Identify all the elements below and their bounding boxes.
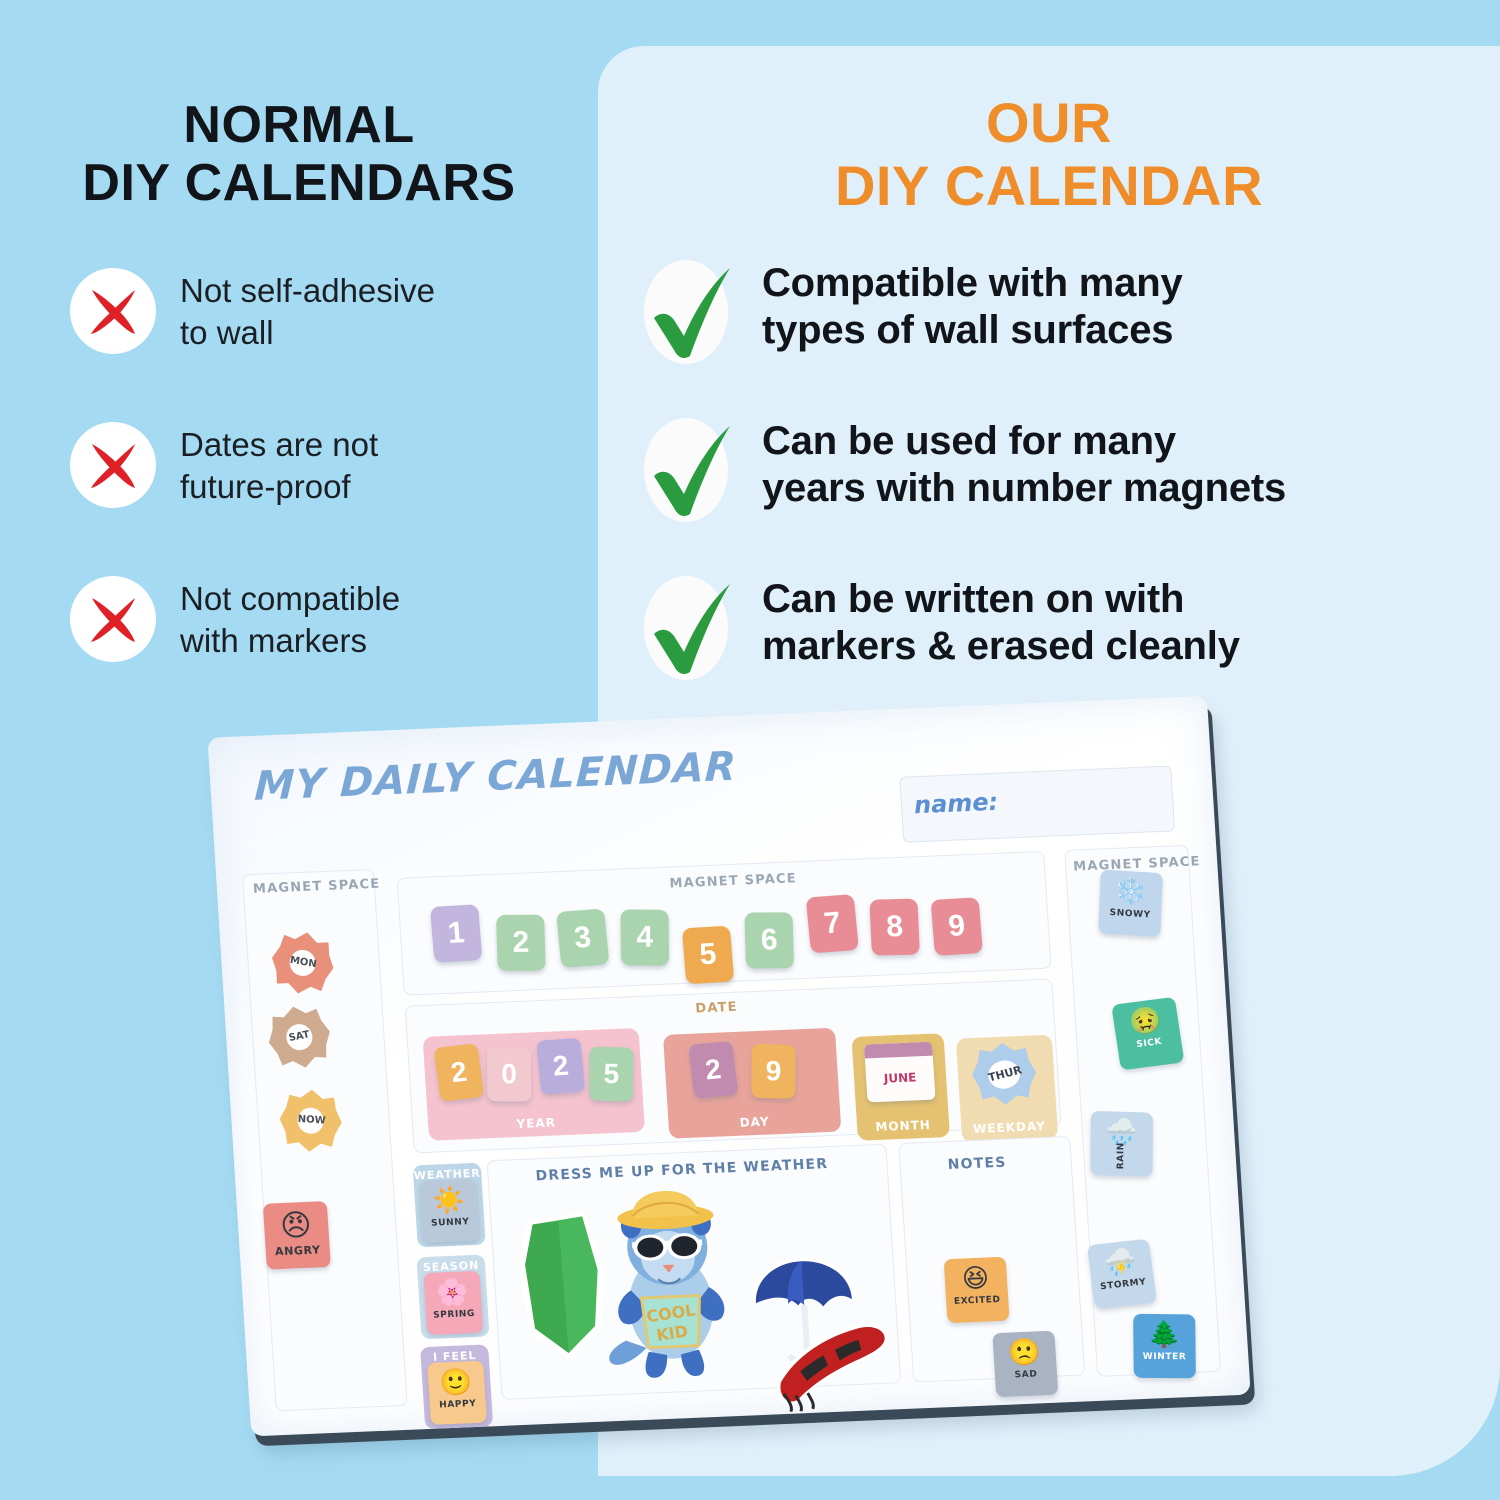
season-category: SEASON 🌸 SPRING xyxy=(416,1255,489,1340)
cross-icon xyxy=(70,268,156,354)
month-caption: MONTH xyxy=(857,1117,950,1135)
board-title: MY DAILY CALENDAR xyxy=(254,744,738,810)
day-caption: DAY xyxy=(668,1112,841,1133)
check-icon xyxy=(640,572,744,684)
feeling-category: I FEEL 🙂 HAPPY xyxy=(420,1344,493,1429)
year-digit[interactable]: 0 xyxy=(487,1047,532,1101)
list-item[interactable]: 🌧️ RAIN xyxy=(1090,1111,1153,1177)
name-field[interactable]: name: xyxy=(899,765,1175,842)
notes-label: NOTES xyxy=(947,1155,1007,1173)
number-magnet[interactable]: 3 xyxy=(556,908,609,967)
list-item: Compatible with many types of wall surfa… xyxy=(640,256,1480,374)
calendar-icon xyxy=(864,1042,933,1059)
left-title-line1: NORMAL xyxy=(183,96,414,154)
list-item[interactable]: 😠 ANGRY xyxy=(263,1201,331,1270)
left-column-title: NORMAL DIY CALENDARS xyxy=(0,96,598,212)
magnet-label: WINTER xyxy=(1134,1351,1196,1362)
list-item[interactable]: 😆 EXCITED xyxy=(944,1257,1010,1323)
magnet-label: NOW xyxy=(297,1107,324,1135)
scarf-icon[interactable] xyxy=(763,1317,909,1413)
feeling-magnet[interactable]: 🙂 HAPPY xyxy=(427,1361,487,1425)
sun-icon: ☀️ xyxy=(420,1186,478,1217)
list-item-text: Can be used for many years with number m… xyxy=(762,414,1286,512)
year-digit[interactable]: 2 xyxy=(434,1043,485,1102)
month-value: JUNE xyxy=(866,1070,935,1087)
right-title-line1: OUR xyxy=(986,91,1112,154)
name-label: name: xyxy=(913,788,999,819)
number-magnet[interactable]: 8 xyxy=(869,899,920,956)
cons-list: Not self-adhesive to wall Dates are not … xyxy=(70,268,590,730)
year-caption: YEAR xyxy=(428,1112,645,1135)
year-digit[interactable]: 2 xyxy=(536,1038,585,1095)
list-item-text: Not compatible with markers xyxy=(180,576,400,662)
check-icon xyxy=(640,414,744,526)
weekday-caption: WEEKDAY xyxy=(961,1118,1058,1136)
list-item: Can be used for many years with number m… xyxy=(640,414,1480,532)
number-magnet[interactable]: 1 xyxy=(430,904,482,963)
magnet-label: SAD xyxy=(995,1368,1058,1381)
list-item: Can be written on with markers & erased … xyxy=(640,572,1480,690)
date-label: DATE xyxy=(695,1000,738,1017)
weather-magnet[interactable]: ☀️ SUNNY xyxy=(420,1179,480,1243)
list-item-text: Can be written on with markers & erased … xyxy=(762,572,1240,670)
list-item[interactable]: ❄️ SNOWY xyxy=(1098,869,1163,937)
list-item[interactable]: 🙁 SAD xyxy=(992,1331,1058,1397)
season-magnet[interactable]: 🌸 SPRING xyxy=(423,1271,483,1335)
character-illustration[interactable]: COOL KID xyxy=(589,1186,751,1392)
right-title-line2: DIY CALENDAR xyxy=(598,155,1500,218)
list-item[interactable]: ⛈️ STORMY xyxy=(1087,1239,1157,1309)
number-magnet[interactable]: 9 xyxy=(931,897,983,956)
happy-face-icon: 🙂 xyxy=(428,1368,486,1399)
magnet-label: MON xyxy=(288,948,318,978)
board-surface: MY DAILY CALENDAR name: MAGNET SPACE MON… xyxy=(207,696,1250,1437)
day-digit[interactable]: 2 xyxy=(688,1041,738,1099)
magnet-label: EXCITED xyxy=(946,1294,1009,1307)
list-item: Not compatible with markers xyxy=(70,576,590,668)
number-magnet[interactable]: 4 xyxy=(621,909,670,965)
month-magnet[interactable]: JUNE xyxy=(864,1042,936,1103)
list-item: Dates are not future-proof xyxy=(70,422,590,514)
cross-icon xyxy=(70,422,156,508)
magnet-label: SNOWY xyxy=(1099,907,1161,921)
excited-face-icon: 😆 xyxy=(944,1264,1008,1295)
bare-tree-icon: 🌲 xyxy=(1133,1321,1195,1350)
number-magnet[interactable]: 2 xyxy=(496,915,546,971)
blossom-tree-icon: 🌸 xyxy=(424,1278,482,1309)
list-item-text: Compatible with many types of wall surfa… xyxy=(762,256,1183,354)
storm-cloud-icon: ⛈️ xyxy=(1088,1246,1153,1281)
list-item[interactable]: 🌲 WINTER xyxy=(1133,1314,1196,1379)
number-magnet[interactable]: 6 xyxy=(744,912,794,968)
check-icon xyxy=(640,256,744,368)
magnet-label: HAPPY xyxy=(429,1398,486,1410)
magnet-label: RAIN xyxy=(1117,1142,1127,1169)
magnet-label: SAT xyxy=(284,1022,315,1052)
weather-category: WEATHER ☀️ SUNNY xyxy=(413,1163,486,1248)
magnet-label: SPRING xyxy=(426,1308,483,1320)
cross-icon xyxy=(70,576,156,662)
number-magnet[interactable]: 5 xyxy=(682,926,734,985)
list-item[interactable]: 🤢 SICK xyxy=(1111,997,1184,1071)
list-item-text: Not self-adhesive to wall xyxy=(180,268,435,354)
snowflake-icon: ❄️ xyxy=(1099,876,1162,908)
magnet-label: ANGRY xyxy=(265,1243,330,1259)
day-digit[interactable]: 9 xyxy=(751,1044,795,1099)
list-item: Not self-adhesive to wall xyxy=(70,268,590,360)
weekday-value: THUR xyxy=(985,1057,1023,1092)
left-title-line2: DIY CALENDARS xyxy=(0,154,598,212)
sad-face-icon: 🙁 xyxy=(993,1338,1057,1369)
list-item-text: Dates are not future-proof xyxy=(180,422,378,508)
pros-list: Compatible with many types of wall surfa… xyxy=(640,256,1480,730)
angry-face-icon: 😠 xyxy=(263,1208,329,1244)
calendar-board-photo: MY DAILY CALENDAR name: MAGNET SPACE MON… xyxy=(205,696,1260,1467)
right-column-title: OUR DIY CALENDAR xyxy=(598,92,1500,217)
year-digit[interactable]: 5 xyxy=(589,1047,633,1102)
number-magnet[interactable]: 7 xyxy=(806,894,859,953)
magnet-label: SUNNY xyxy=(422,1216,479,1228)
